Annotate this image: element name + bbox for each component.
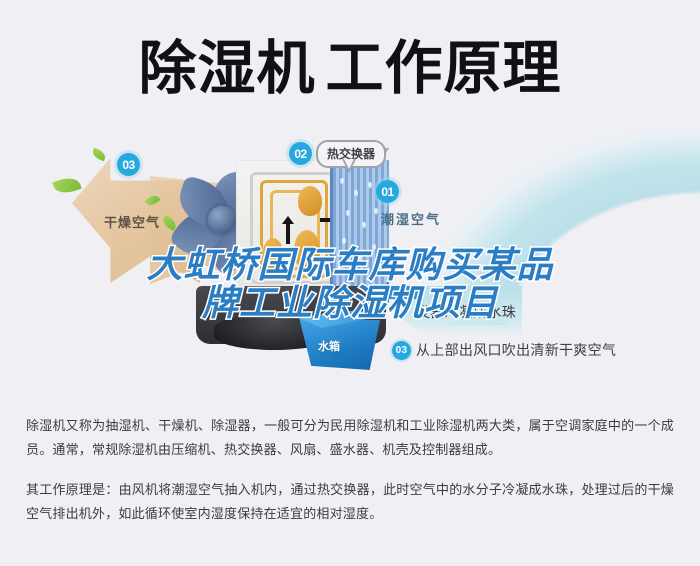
humid-air-label: 潮湿空气 xyxy=(381,209,441,228)
illustration-stage: 水箱 03 干燥空气 02 热交换器 01 潮湿空气 02 发器冷凝成水珠 03… xyxy=(0,118,700,403)
callout-text: 发器冷凝成水珠 xyxy=(416,302,516,322)
water-tank-label: 水箱 xyxy=(318,338,340,354)
page-title: 除湿机工作原理 xyxy=(0,26,700,112)
heat-exchanger-callout-pointer xyxy=(342,159,356,173)
compressor-part xyxy=(294,230,320,270)
leaf-icon xyxy=(91,148,107,162)
water-tank-graphic: 水箱 xyxy=(290,310,386,372)
callout-item: 03 从上部出风口吹出清新干爽空气 xyxy=(392,340,692,360)
leaf-icon xyxy=(52,174,81,196)
description-block: 除湿机又称为抽湿机、干燥机、除湿器，一般可分为民用除湿机和工业除湿机两大类，属于… xyxy=(0,414,700,542)
step-badge-03-left: 03 xyxy=(117,153,140,176)
title-part-2: 工作原理 xyxy=(326,36,562,101)
description-paragraph-2: 其工作原理是：由风机将潮湿空气抽入机内，通过热交换器，此时空气中的水分子冷凝成水… xyxy=(26,478,674,526)
compressor-coil-graphic xyxy=(246,168,336,286)
infographic-page: 除湿机工作原理 xyxy=(0,0,700,566)
flow-arrow-up-icon xyxy=(286,224,290,244)
compressor-part xyxy=(298,186,322,216)
air-intake-arrow-icon xyxy=(388,286,422,299)
callout-item: 02 发器冷凝成水珠 xyxy=(392,302,692,322)
callout-text: 从上部出风口吹出清新干爽空气 xyxy=(416,340,616,360)
condensation-drops-graphic xyxy=(334,170,382,284)
title-part-1: 除湿机 xyxy=(138,36,315,101)
dehumidifier-body-graphic xyxy=(236,160,372,296)
title-text: 除湿机工作原理 xyxy=(138,40,561,98)
compressor-part xyxy=(262,238,284,276)
fan-hub xyxy=(208,206,236,234)
dry-air-label: 干燥空气 xyxy=(104,212,160,231)
description-paragraph-1: 除湿机又称为抽湿机、干燥机、除湿器，一般可分为民用除湿机和工业除湿机两大类，属于… xyxy=(26,414,674,462)
callout-list: 02 发器冷凝成水珠 03 从上部出风口吹出清新干爽空气 xyxy=(392,302,692,378)
step-badge-01: 01 xyxy=(376,180,399,203)
step-badge-02: 02 xyxy=(289,142,312,165)
callout-badge: 03 xyxy=(392,341,411,360)
